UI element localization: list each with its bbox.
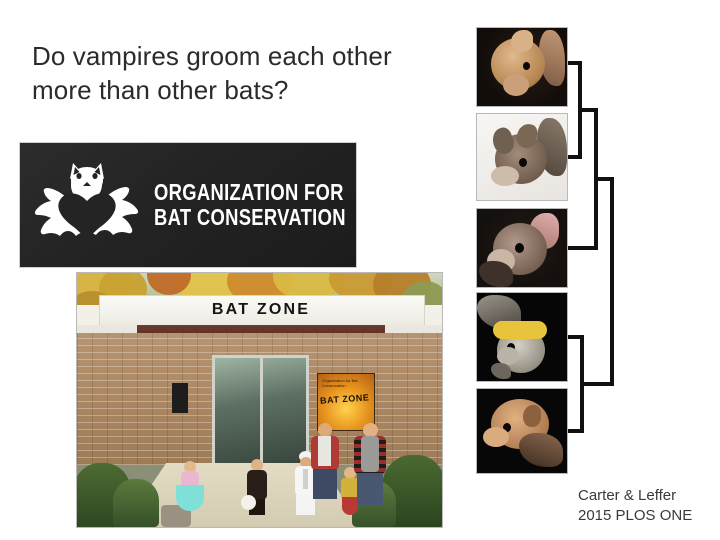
organization-logo-panel: ORGANIZATION FOR BAT CONSERVATION xyxy=(19,142,357,268)
citation: Carter & Leffer 2015 PLOS ONE xyxy=(578,486,718,526)
person-child-dark xyxy=(245,459,269,515)
page-title: Do vampires groom each other more than o… xyxy=(32,40,442,108)
slide-canvas: Do vampires groom each other more than o… xyxy=(0,0,720,540)
person-adult-right xyxy=(353,423,387,505)
door-mullion xyxy=(260,355,263,471)
organization-logo-text: ORGANIZATION FOR BAT CONSERVATION xyxy=(154,180,346,230)
bat-heart-icon xyxy=(28,155,146,255)
phylogeny-panel xyxy=(470,20,635,480)
poster-title: BAT ZONE xyxy=(320,392,370,405)
logo-line-2: BAT CONSERVATION xyxy=(154,205,346,230)
logo-line-1: ORGANIZATION FOR xyxy=(154,180,346,205)
person-adult-left xyxy=(309,423,341,499)
citation-source: 2015 PLOS ONE xyxy=(578,506,718,526)
bat-zone-sign-text: BAT ZONE xyxy=(99,295,423,325)
poster-subtext: Organization for Bat Conservation xyxy=(322,378,374,388)
citation-authors: Carter & Leffer xyxy=(578,486,718,506)
shrub-left-2 xyxy=(113,479,159,527)
person-child-princess xyxy=(177,461,203,511)
cladogram-lines xyxy=(470,20,635,480)
bat-zone-building-photo: BAT ZONE Organization for Bat Conservati… xyxy=(76,272,443,528)
wall-panel-box xyxy=(172,383,188,413)
